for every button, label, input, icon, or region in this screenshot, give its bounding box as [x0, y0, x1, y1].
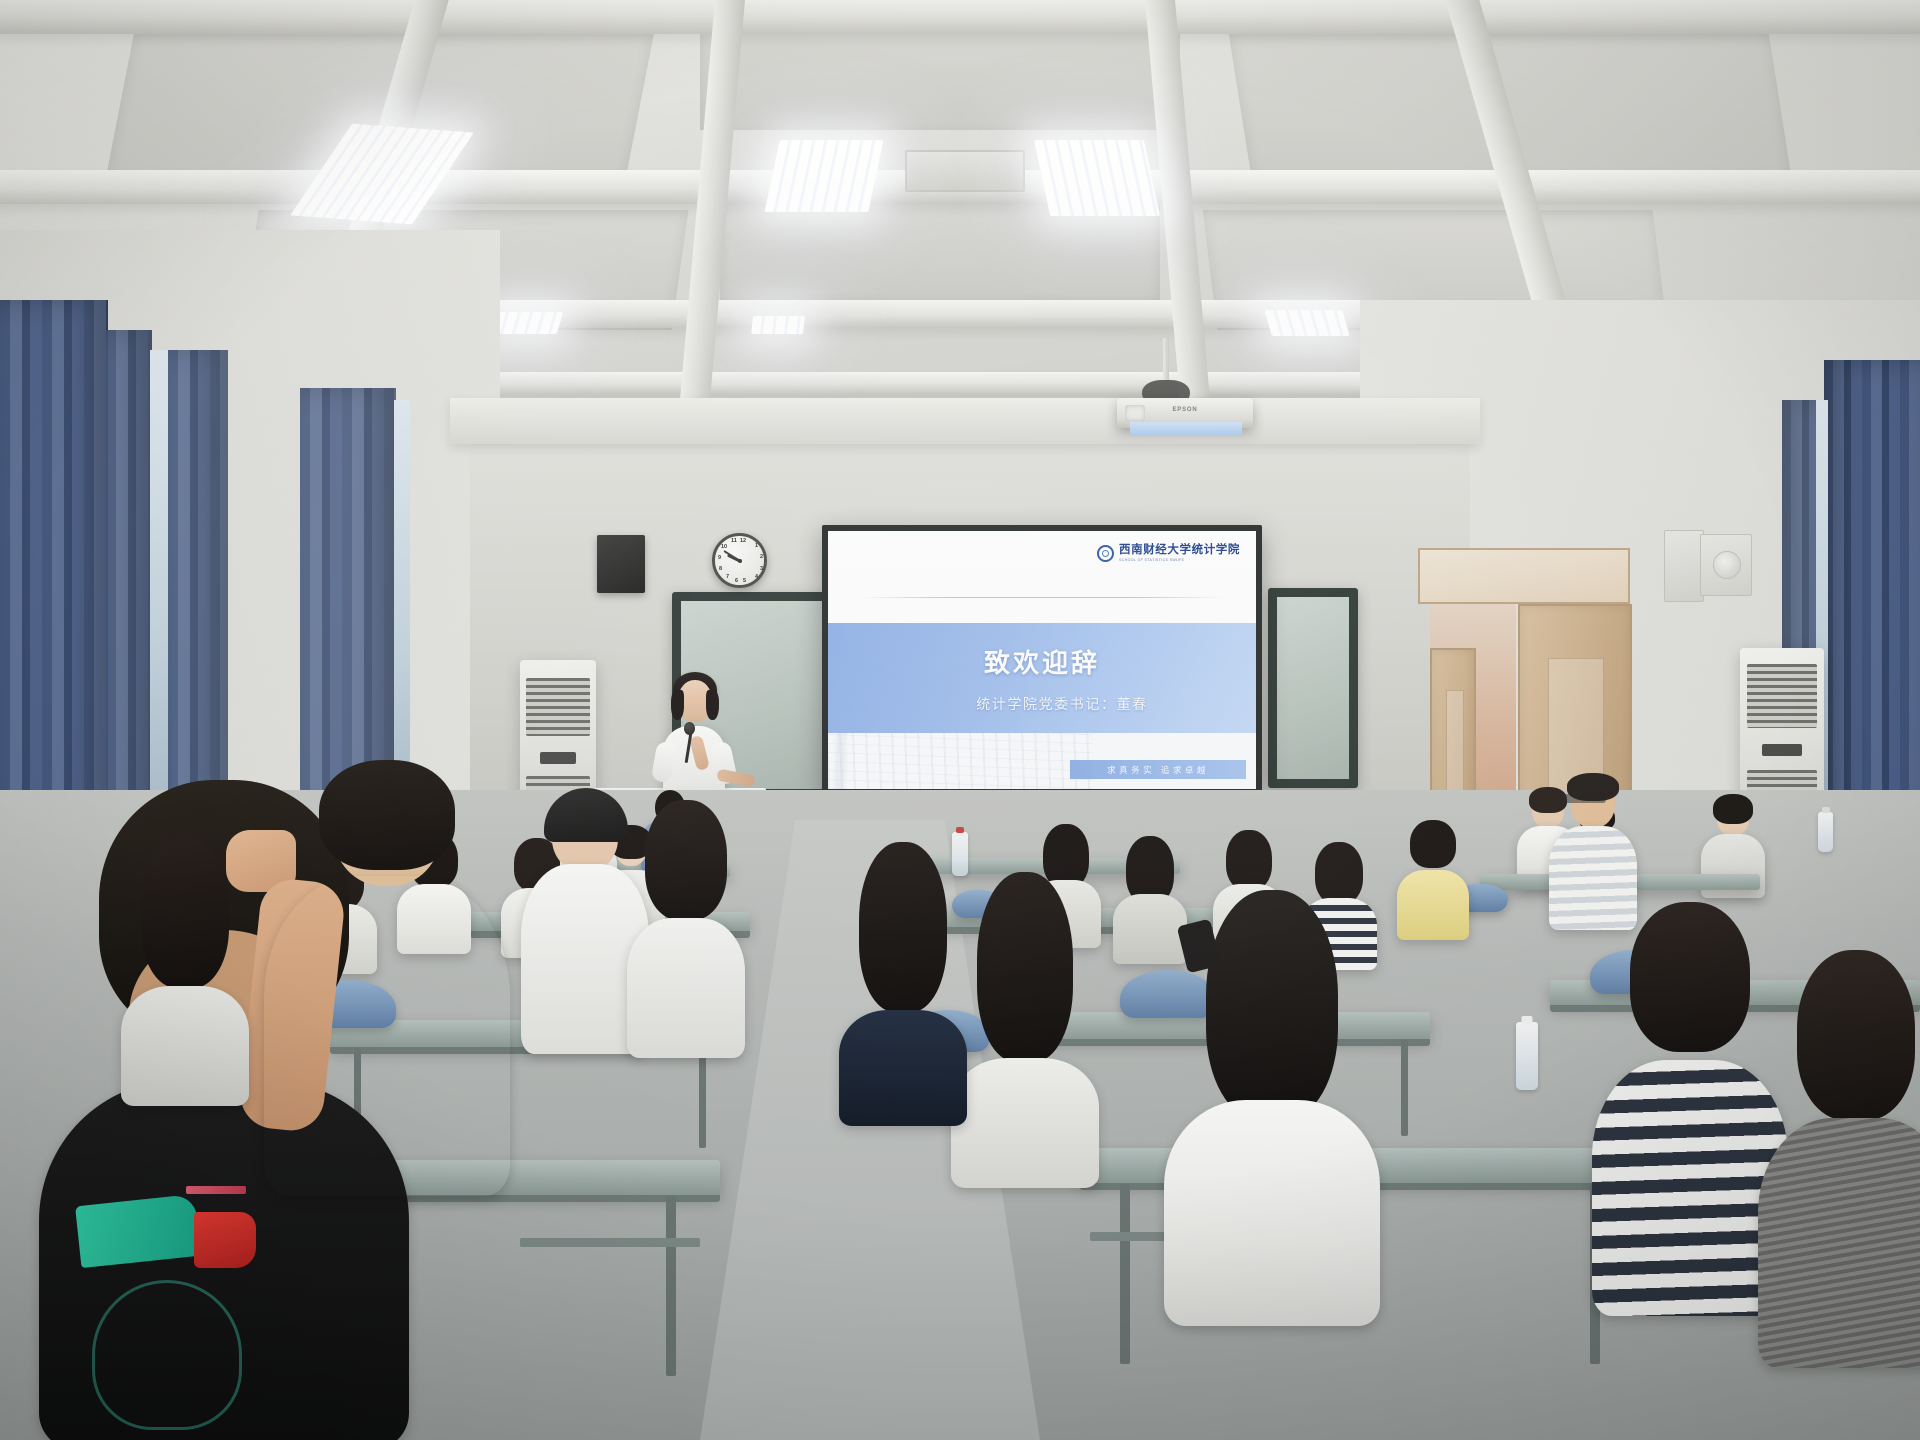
- slide-subtitle: 统计学院党委书记：董春: [976, 694, 1148, 714]
- window-curtain-right: [1824, 360, 1920, 830]
- projector-lens-icon: [1125, 405, 1145, 421]
- ceiling-light: [764, 140, 883, 212]
- motto-text: 求真务实 追求卓越: [1107, 764, 1209, 776]
- university-logo: 西南财经大学统计学院 SCHOOL OF STATISTICS SWUFE: [1097, 545, 1240, 562]
- projection-screen: 西南财经大学统计学院 SCHOOL OF STATISTICS SWUFE 致欢…: [822, 525, 1262, 795]
- person: [626, 808, 746, 1048]
- tshirt-graphic-red: [194, 1212, 256, 1268]
- slide-footer: 求真务实 追求卓越: [828, 733, 1256, 789]
- wall-speaker-right: [1700, 534, 1752, 596]
- slide-header: 西南财经大学统计学院 SCHOOL OF STATISTICS SWUFE: [828, 531, 1256, 623]
- ceiling-light: [1034, 140, 1160, 216]
- tshirt-graphic-outline: [92, 1280, 242, 1430]
- water-bottle: [1818, 812, 1833, 852]
- person: [838, 850, 968, 1120]
- wall-soffit: [450, 398, 1480, 444]
- slide-title-band: 致欢迎辞 统计学院党委书记：董春: [828, 623, 1256, 733]
- university-name-cn: 西南财经大学统计学院: [1119, 545, 1240, 557]
- person: [1162, 900, 1382, 1320]
- person: [1756, 958, 1920, 1358]
- person: [1548, 778, 1638, 928]
- door-transom-window: [1418, 548, 1630, 604]
- slide-divider-rule: [858, 597, 1226, 598]
- ceiling-vent: [905, 150, 1025, 192]
- slide: 西南财经大学统计学院 SCHOOL OF STATISTICS SWUFE 致欢…: [828, 531, 1256, 789]
- blackboard-right: [1268, 588, 1358, 788]
- desk-rail: [520, 1238, 700, 1247]
- projector-mount-rod: [1163, 338, 1169, 384]
- swufe-emblem-icon: [1097, 545, 1114, 562]
- tshirt-graphic-teal: [75, 1194, 201, 1268]
- person: [950, 880, 1100, 1180]
- slide-title: 致欢迎辞: [984, 643, 1100, 680]
- person: [1396, 826, 1470, 936]
- tshirt-text-graphic: [186, 1186, 246, 1194]
- motto-banner: 求真务实 追求卓越: [1070, 760, 1246, 779]
- hair-clip-icon: [1177, 919, 1222, 974]
- clock-center-pin: [738, 559, 742, 563]
- wall-speaker-left: [597, 535, 645, 593]
- projector-brand-label: EPSON: [1172, 407, 1197, 413]
- university-name-en: SCHOOL OF STATISTICS SWUFE: [1119, 559, 1240, 563]
- lecture-hall-photo: 西南财经大学统计学院 SCHOOL OF STATISTICS SWUFE 致欢…: [0, 0, 1920, 1440]
- person: [120, 846, 250, 1096]
- ceiling-light: [751, 316, 805, 334]
- ceiling-light: [1264, 310, 1349, 336]
- ceiling-light: [491, 312, 563, 334]
- campus-sketch-graphic: [828, 733, 1093, 789]
- notice-board: [1664, 530, 1704, 602]
- water-bottle: [1516, 1022, 1538, 1090]
- wall-clock: 12 1 2 3 4 5 6 7 8 9 10 11: [712, 533, 767, 588]
- projector-underside: [1130, 422, 1242, 436]
- window-left-2: [394, 400, 410, 820]
- person: [262, 770, 512, 1190]
